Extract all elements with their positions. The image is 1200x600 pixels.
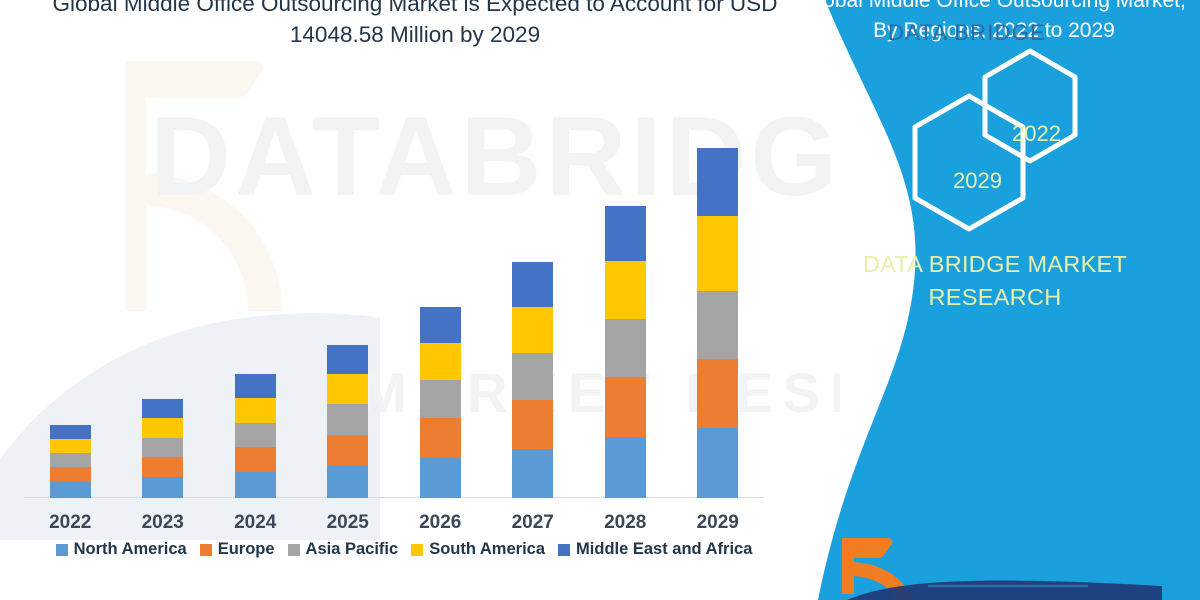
bar-segment [605, 319, 646, 377]
legend-item-north-america[interactable]: North America [56, 540, 187, 559]
chart-legend: North AmericaEuropeAsia PacificSouth Ame… [24, 540, 784, 559]
bar-segment [327, 435, 368, 466]
stacked-bar-2029[interactable] [697, 148, 738, 498]
stacked-bar-2028[interactable] [605, 206, 646, 498]
bar-segment [142, 418, 183, 437]
x-tick-2025: 2025 [302, 512, 395, 534]
legend-item-south-america[interactable]: South America [411, 540, 545, 559]
bar-segment [235, 472, 276, 498]
bar-segment [142, 438, 183, 457]
data-bridge-logo-text: DATA BRIDGE [888, 20, 1046, 46]
x-tick-2026: 2026 [394, 512, 487, 534]
bar-group-2027 [487, 60, 580, 498]
x-tick-2028: 2028 [579, 512, 672, 534]
legend-item-europe[interactable]: Europe [200, 540, 275, 559]
bar-segment [512, 307, 553, 353]
x-tick-2022: 2022 [24, 512, 117, 534]
bar-segment [327, 374, 368, 404]
bar-segment [512, 400, 553, 448]
legend-item-middle-east-and-africa[interactable]: Middle East and Africa [558, 540, 752, 559]
bar-segment [50, 482, 91, 498]
bar-segment [605, 377, 646, 436]
bar-segment [235, 447, 276, 472]
legend-label: South America [429, 540, 545, 559]
bar-segment [327, 466, 368, 498]
bar-segment [605, 206, 646, 261]
legend-swatch-icon [411, 544, 423, 556]
bar-segment [420, 458, 461, 498]
bar-segment [235, 374, 276, 398]
bar-segment [50, 453, 91, 467]
bar-group-2029 [672, 60, 765, 498]
legend-swatch-icon [200, 544, 212, 556]
x-tick-2023: 2023 [117, 512, 210, 534]
chart-title: Global Middle Office Outsourcing Market … [20, 0, 810, 50]
bar-segment [50, 439, 91, 453]
bar-segment [697, 291, 738, 359]
bar-segment [142, 399, 183, 418]
x-tick-2029: 2029 [672, 512, 765, 534]
bar-segment [142, 457, 183, 477]
bar-chart-plot [24, 60, 764, 498]
legend-swatch-icon [558, 544, 570, 556]
stacked-bar-2025[interactable] [327, 345, 368, 498]
bar-segment [50, 467, 91, 482]
data-bridge-logo-icon [832, 530, 1162, 600]
legend-swatch-icon [56, 544, 68, 556]
brand-name: DATA BRIDGE MARKET RESEARCH [800, 248, 1190, 314]
stacked-bar-2023[interactable] [142, 399, 183, 498]
bar-group-2022 [24, 60, 117, 498]
legend-label: North America [74, 540, 187, 559]
bar-segment [420, 343, 461, 380]
legend-item-asia-pacific[interactable]: Asia Pacific [288, 540, 399, 559]
bar-segment [697, 359, 738, 427]
hexagon-2022-label: 2022 [1012, 121, 1061, 147]
x-axis-labels: 20222023202420252026202720282029 [24, 505, 764, 539]
stacked-bar-2027[interactable] [512, 262, 553, 498]
bar-segment [420, 380, 461, 418]
bar-segment [605, 261, 646, 318]
legend-label: Europe [218, 540, 275, 559]
bar-segment [142, 477, 183, 498]
infographic-root: DATABRIDGE MARKET RESEARCH Global Middle… [0, 0, 1200, 600]
bar-group-2025 [302, 60, 395, 498]
legend-swatch-icon [288, 544, 300, 556]
bar-group-2028 [579, 60, 672, 498]
hexagon-2029-label: 2029 [953, 168, 1002, 194]
stacked-bar-2024[interactable] [235, 374, 276, 498]
bar-segment [420, 418, 461, 457]
bar-segment [697, 428, 738, 498]
bar-segment [235, 398, 276, 422]
bar-group-2023 [117, 60, 210, 498]
stacked-bar-2022[interactable] [50, 425, 91, 498]
bar-segment [327, 404, 368, 434]
bar-segment [50, 425, 91, 439]
bar-group-2024 [209, 60, 302, 498]
x-tick-2027: 2027 [487, 512, 580, 534]
stacked-bar-2026[interactable] [420, 307, 461, 498]
hexagon-2022-icon [976, 46, 1084, 166]
chart-panel: DATABRIDGE MARKET RESEARCH Global Middle… [0, 0, 840, 600]
bar-segment [697, 216, 738, 291]
brand-panel: Global Middle Office Outsourcing Market,… [780, 0, 1200, 600]
bar-segment [327, 345, 368, 374]
x-tick-2024: 2024 [209, 512, 302, 534]
bar-segment [235, 423, 276, 447]
bar-segment [512, 353, 553, 400]
bar-group-2026 [394, 60, 487, 498]
bar-segment [512, 262, 553, 306]
bar-segment [697, 148, 738, 216]
bar-segment [605, 437, 646, 498]
legend-label: Asia Pacific [306, 540, 399, 559]
bar-segment [420, 307, 461, 343]
legend-label: Middle East and Africa [576, 540, 752, 559]
bar-segment [512, 449, 553, 498]
